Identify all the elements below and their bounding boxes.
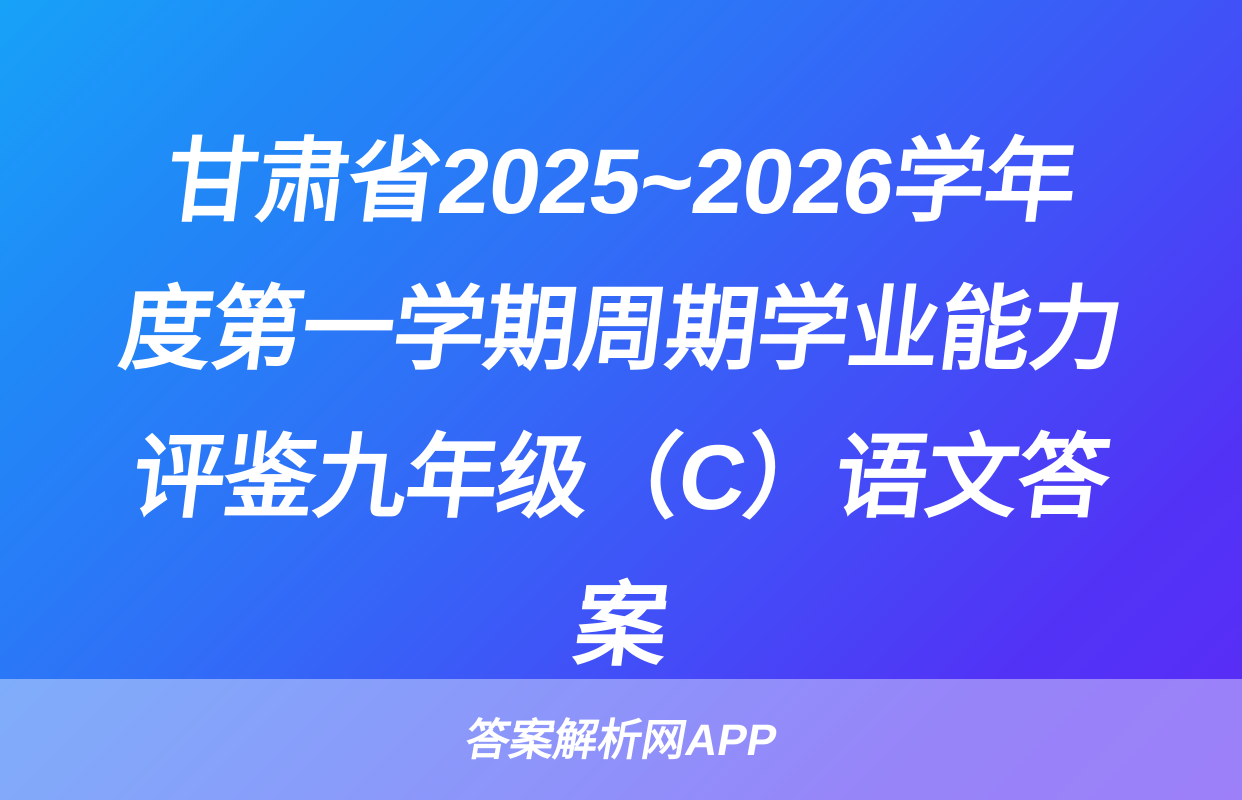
title-line-3: 评鉴九年级（C）语文答 (87, 404, 1155, 552)
watermark-band: 答案解析网APP (0, 679, 1242, 800)
poster-canvas: 甘肃省2025~2026学年 度第一学期周期学业能力 评鉴九年级（C）语文答 案… (0, 0, 1242, 800)
title-line-4: 案 (87, 552, 1155, 700)
title-line-2: 度第一学期周期学业能力 (87, 256, 1155, 404)
title-line-1: 甘肃省2025~2026学年 (87, 108, 1155, 256)
page-title: 甘肃省2025~2026学年 度第一学期周期学业能力 评鉴九年级（C）语文答 案 (0, 108, 1242, 700)
app-watermark-label: 答案解析网APP (462, 719, 780, 763)
